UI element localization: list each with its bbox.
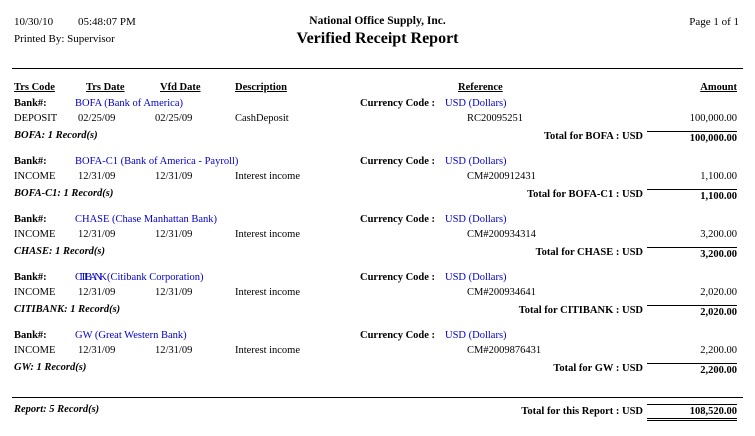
currency-code-label: Currency Code : <box>360 272 435 283</box>
currency-code-link[interactable]: USD (Dollars) <box>445 272 507 283</box>
group-total-label: Total for CITIBANK : USD <box>519 305 643 316</box>
bank-number-label: Bank#: <box>14 272 47 283</box>
cell-description: CashDeposit <box>235 113 289 124</box>
group-record-count: GW: 1 Record(s) <box>14 362 86 373</box>
group-total-amount: 2,200.00 <box>647 363 737 376</box>
cell-trs-date: 02/25/09 <box>78 113 115 124</box>
cell-amount: 2,020.00 <box>700 287 737 298</box>
bank-header-row: Bank#:BOFA-C1 (Bank of America - Payroll… <box>0 156 755 171</box>
cell-amount: 100,000.00 <box>690 113 737 124</box>
currency-code-link[interactable]: USD (Dollars) <box>445 330 507 341</box>
report-total-label: Total for this Report : USD <box>521 406 643 417</box>
cell-trs-code: INCOME <box>14 345 55 356</box>
column-header-trs-code: Trs Code <box>14 82 55 93</box>
group-total-amount: 3,200.00 <box>647 247 737 260</box>
cell-description: Interest income <box>235 229 300 240</box>
bank-name-link[interactable]: GW (Great Western Bank) <box>75 330 187 341</box>
cell-vfd-date: 02/25/09 <box>155 113 192 124</box>
cell-vfd-date: 12/31/09 <box>155 287 192 298</box>
bank-group: Bank#:BOFA (Bank of America)Currency Cod… <box>0 98 755 146</box>
cell-trs-date: 12/31/09 <box>78 171 115 182</box>
report-page: 10/30/10 05:48:07 PM Printed By: Supervi… <box>0 0 755 436</box>
group-total-amount: 2,020.00 <box>647 305 737 318</box>
bank-group: Bank#:GW (Great Western Bank)Currency Co… <box>0 330 755 378</box>
bank-header-row: Bank#:CHASE (Chase Manhattan Bank)Curren… <box>0 214 755 229</box>
bank-name-link[interactable]: BOFA (Bank of America) <box>75 98 183 109</box>
group-total-row: CHASE: 1 Record(s)Total for CHASE : USD3… <box>0 245 755 262</box>
currency-code-label: Currency Code : <box>360 330 435 341</box>
company-name: National Office Supply, Inc. <box>0 15 755 27</box>
bank-description-text: (Citibank Corporation) <box>104 272 203 283</box>
report-total-amount: 108,520.00 <box>647 404 737 421</box>
bank-group: Bank#:CHASE (Chase Manhattan Bank)Curren… <box>0 214 755 262</box>
cell-reference: CM#200934641 <box>467 287 536 298</box>
column-header-reference: Reference <box>458 82 503 93</box>
cell-trs-code: DEPOSIT <box>14 113 57 124</box>
cell-amount: 2,200.00 <box>700 345 737 356</box>
cell-reference: CM#200934314 <box>467 229 536 240</box>
cell-reference: CM#2009876431 <box>467 345 541 356</box>
column-header-amount: Amount <box>700 82 737 93</box>
header-divider <box>12 68 743 69</box>
group-total-label: Total for CHASE : USD <box>536 247 643 258</box>
cell-trs-date: 12/31/09 <box>78 287 115 298</box>
table-column-headers: Trs Code Trs Date Vfd Date Description R… <box>0 82 755 95</box>
cell-description: Interest income <box>235 345 300 356</box>
table-row[interactable]: DEPOSIT02/25/0902/25/09CashDepositRC2009… <box>0 113 755 129</box>
report-record-count: Report: 5 Record(s) <box>14 404 99 415</box>
cell-trs-code: INCOME <box>14 287 55 298</box>
group-total-row: BOFA-C1: 1 Record(s)Total for BOFA-C1 : … <box>0 187 755 204</box>
bank-group: Bank#:CITIBANK (Citibank Corporation)Cur… <box>0 272 755 320</box>
bank-name-link[interactable]: CHASE (Chase Manhattan Bank) <box>75 214 217 225</box>
bank-code-text: CITIBANK <box>75 272 104 283</box>
bank-name-link[interactable]: CITIBANK (Citibank Corporation) <box>75 272 204 283</box>
cell-amount: 3,200.00 <box>700 229 737 240</box>
cell-vfd-date: 12/31/09 <box>155 229 192 240</box>
bank-name-link[interactable]: BOFA-C1 (Bank of America - Payroll) <box>75 156 238 167</box>
cell-vfd-date: 12/31/09 <box>155 171 192 182</box>
bank-header-row: Bank#:GW (Great Western Bank)Currency Co… <box>0 330 755 345</box>
cell-description: Interest income <box>235 287 300 298</box>
column-header-description: Description <box>235 82 287 93</box>
column-header-vfd-date: Vfd Date <box>160 82 201 93</box>
cell-amount: 1,100.00 <box>700 171 737 182</box>
group-total-label: Total for BOFA-C1 : USD <box>527 189 643 200</box>
cell-trs-date: 12/31/09 <box>78 345 115 356</box>
currency-code-label: Currency Code : <box>360 156 435 167</box>
group-total-label: Total for GW : USD <box>553 363 643 374</box>
currency-code-link[interactable]: USD (Dollars) <box>445 98 507 109</box>
page-title: Verified Receipt Report <box>0 30 755 48</box>
group-total-row: CITIBANK: 1 Record(s)Total for CITIBANK … <box>0 303 755 320</box>
currency-code-label: Currency Code : <box>360 98 435 109</box>
group-total-row: GW: 1 Record(s)Total for GW : USD2,200.0… <box>0 361 755 378</box>
group-total-row: BOFA: 1 Record(s)Total for BOFA : USD100… <box>0 129 755 146</box>
group-record-count: CHASE: 1 Record(s) <box>14 246 105 257</box>
group-record-count: BOFA: 1 Record(s) <box>14 130 98 141</box>
table-row[interactable]: INCOME12/31/0912/31/09Interest incomeCM#… <box>0 345 755 361</box>
table-row[interactable]: INCOME12/31/0912/31/09Interest incomeCM#… <box>0 229 755 245</box>
cell-trs-code: INCOME <box>14 229 55 240</box>
footer-divider <box>12 397 743 398</box>
cell-reference: RC20095251 <box>467 113 523 124</box>
currency-code-link[interactable]: USD (Dollars) <box>445 214 507 225</box>
bank-group: Bank#:BOFA-C1 (Bank of America - Payroll… <box>0 156 755 204</box>
currency-code-label: Currency Code : <box>360 214 435 225</box>
page-number: Page 1 of 1 <box>689 16 739 28</box>
group-record-count: BOFA-C1: 1 Record(s) <box>14 188 113 199</box>
bank-number-label: Bank#: <box>14 98 47 109</box>
cell-trs-date: 12/31/09 <box>78 229 115 240</box>
bank-number-label: Bank#: <box>14 156 47 167</box>
cell-trs-code: INCOME <box>14 171 55 182</box>
group-total-amount: 100,000.00 <box>647 131 737 144</box>
group-total-amount: 1,100.00 <box>647 189 737 202</box>
table-row[interactable]: INCOME12/31/0912/31/09Interest incomeCM#… <box>0 287 755 303</box>
bank-number-label: Bank#: <box>14 330 47 341</box>
bank-header-row: Bank#:CITIBANK (Citibank Corporation)Cur… <box>0 272 755 287</box>
group-record-count: CITIBANK: 1 Record(s) <box>14 304 120 315</box>
column-header-trs-date: Trs Date <box>86 82 125 93</box>
table-row[interactable]: INCOME12/31/0912/31/09Interest incomeCM#… <box>0 171 755 187</box>
bank-number-label: Bank#: <box>14 214 47 225</box>
group-total-label: Total for BOFA : USD <box>544 131 643 142</box>
currency-code-link[interactable]: USD (Dollars) <box>445 156 507 167</box>
cell-reference: CM#200912431 <box>467 171 536 182</box>
bank-header-row: Bank#:BOFA (Bank of America)Currency Cod… <box>0 98 755 113</box>
cell-description: Interest income <box>235 171 300 182</box>
cell-vfd-date: 12/31/09 <box>155 345 192 356</box>
